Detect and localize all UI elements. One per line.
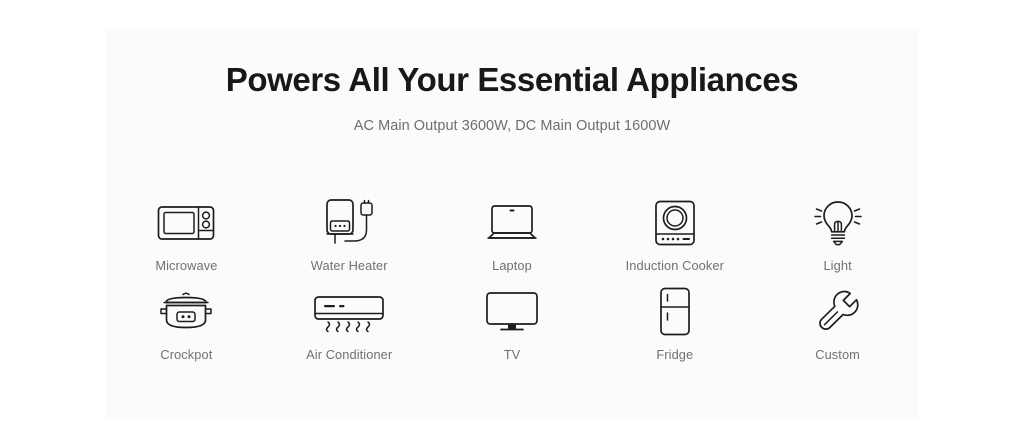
appliance-label: Light [823, 258, 851, 274]
appliance-label: Air Conditioner [306, 347, 392, 363]
water-heater-icon [321, 195, 377, 251]
appliance-item-tv[interactable]: TV [431, 284, 594, 373]
appliance-item-water-heater[interactable]: Water Heater [268, 195, 431, 284]
appliance-item-light[interactable]: Light [756, 195, 919, 284]
crockpot-icon [155, 284, 217, 340]
air-conditioner-icon [312, 284, 386, 340]
appliance-item-crockpot[interactable]: Crockpot [105, 284, 268, 373]
appliance-label: Custom [815, 347, 860, 363]
header-block: Powers All Your Essential Appliances AC … [105, 30, 919, 136]
appliance-item-laptop[interactable]: Laptop [431, 195, 594, 284]
appliance-label: Fridge [656, 347, 693, 363]
induction-cooker-icon [652, 195, 698, 251]
tv-icon [483, 284, 541, 340]
appliance-item-induction-cooker[interactable]: Induction Cooker [593, 195, 756, 284]
appliance-label: TV [504, 347, 521, 363]
appliance-item-fridge[interactable]: Fridge [593, 284, 756, 373]
appliance-label: Induction Cooker [626, 258, 724, 274]
page-subtitle: AC Main Output 3600W, DC Main Output 160… [105, 116, 919, 136]
appliance-label: Water Heater [311, 258, 388, 274]
appliance-item-microwave[interactable]: Microwave [105, 195, 268, 284]
page-title: Powers All Your Essential Appliances [105, 58, 919, 102]
promo-banner: Powers All Your Essential Appliances AC … [0, 0, 1024, 448]
appliance-grid: Microwave [105, 195, 919, 373]
wrench-icon [813, 284, 863, 340]
microwave-icon [156, 195, 216, 251]
appliance-panel: Powers All Your Essential Appliances AC … [105, 30, 919, 419]
appliance-item-custom[interactable]: Custom [756, 284, 919, 373]
appliance-item-air-conditioner[interactable]: Air Conditioner [268, 284, 431, 373]
fridge-icon [655, 284, 695, 340]
laptop-icon [483, 195, 541, 251]
appliance-label: Laptop [492, 258, 532, 274]
appliance-label: Microwave [155, 258, 217, 274]
light-bulb-icon [812, 195, 864, 251]
appliance-label: Crockpot [160, 347, 212, 363]
